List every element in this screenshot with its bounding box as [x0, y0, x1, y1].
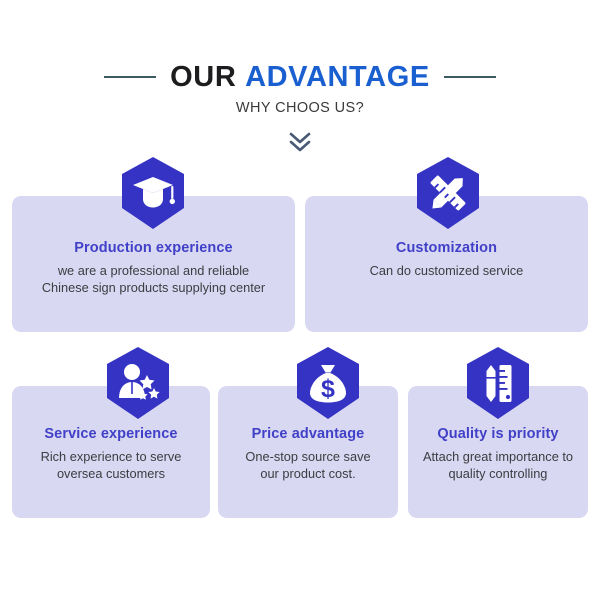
person-with-stars-icon — [105, 346, 171, 420]
page-title-part2: ADVANTAGE — [245, 61, 430, 93]
title-rule-left — [104, 76, 156, 78]
card-description: Attach great importance to quality contr… — [408, 448, 588, 482]
card-description-line2: oversea customers — [22, 465, 200, 482]
card-description-line1: One-stop source save — [228, 448, 388, 465]
card-title: Quality is priority — [408, 426, 588, 442]
card-description: Can do customized service — [305, 262, 588, 279]
card-description-line1: Can do customized service — [315, 262, 578, 279]
page-title-part1: OUR — [170, 61, 236, 93]
card-description-line1: we are a professional and reliable — [22, 262, 285, 279]
title-rule-right — [444, 76, 496, 78]
card-description: One-stop source save our product cost. — [218, 448, 398, 482]
pencil-ruler-crossed-icon — [415, 156, 481, 230]
card-title: Service experience — [12, 426, 210, 442]
card-title: Production experience — [12, 240, 295, 256]
card-description-line2: quality controlling — [418, 465, 578, 482]
money-bag-dollar-icon: $ — [295, 346, 361, 420]
page-title: OUR ADVANTAGE — [170, 60, 430, 94]
page-subtitle: WHY CHOOS US? — [0, 100, 600, 116]
card-title: Price advantage — [218, 426, 398, 442]
double-chevron-down-icon — [0, 129, 600, 155]
graduation-cap-icon — [120, 156, 186, 230]
svg-text:$: $ — [321, 375, 335, 403]
card-title: Customization — [305, 240, 588, 256]
card-description-line2: our product cost. — [228, 465, 388, 482]
card-description-line1: Rich experience to serve — [22, 448, 200, 465]
card-description: we are a professional and reliable Chine… — [12, 262, 295, 296]
card-description-line1: Attach great importance to — [418, 448, 578, 465]
card-description: Rich experience to serve oversea custome… — [12, 448, 210, 482]
title-row: OUR ADVANTAGE — [0, 60, 600, 94]
card-description-line2: Chinese sign products supplying center — [22, 279, 285, 296]
page-header: OUR ADVANTAGE WHY CHOOS US? — [0, 60, 600, 155]
pencil-ruler-icon — [465, 346, 531, 420]
